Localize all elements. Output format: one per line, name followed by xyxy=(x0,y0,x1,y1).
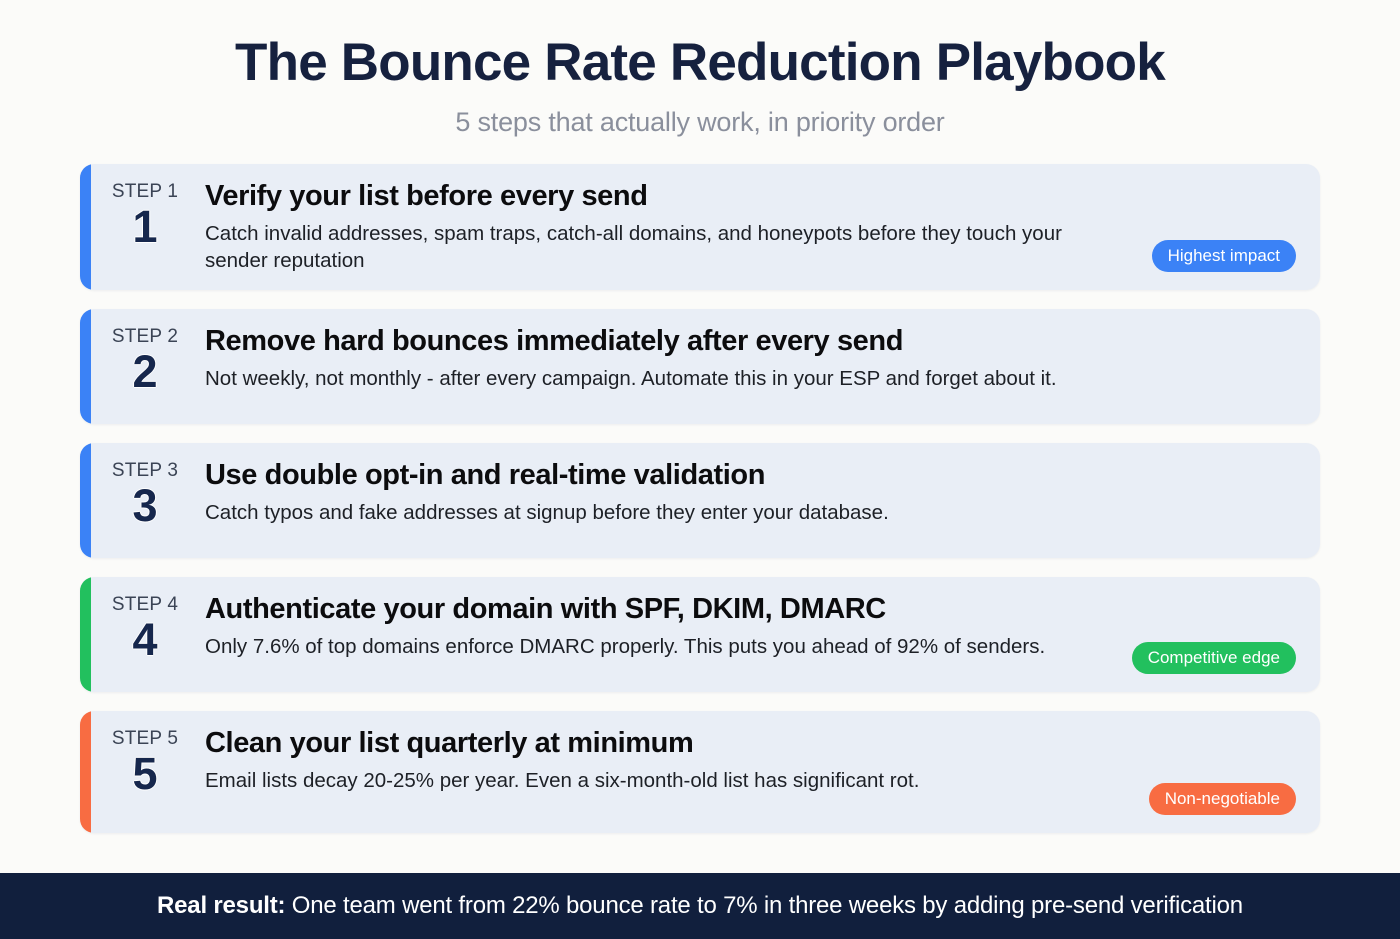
step-numeral: 4 xyxy=(91,617,199,663)
step-body: Use double opt-in and real-time validati… xyxy=(199,443,1320,540)
step-description: Catch invalid addresses, spam traps, cat… xyxy=(205,220,1125,275)
accent-bar-icon xyxy=(80,711,91,833)
status-badge: Highest impact xyxy=(1152,240,1296,272)
step-index: STEP 3 3 xyxy=(91,443,199,529)
footer-banner: Real result: One team went from 22% boun… xyxy=(0,873,1400,939)
step-card[interactable]: STEP 4 4 Authenticate your domain with S… xyxy=(80,577,1320,692)
step-card[interactable]: STEP 2 2 Remove hard bounces immediately… xyxy=(80,309,1320,424)
step-numeral: 5 xyxy=(91,751,199,797)
status-badge: Competitive edge xyxy=(1132,642,1296,674)
steps-list: STEP 1 1 Verify your list before every s… xyxy=(0,164,1400,833)
footer-lead-label: Real result: xyxy=(157,892,285,919)
step-card[interactable]: STEP 1 1 Verify your list before every s… xyxy=(80,164,1320,290)
step-kicker: STEP 1 xyxy=(91,182,199,201)
step-title: Authenticate your domain with SPF, DKIM,… xyxy=(205,593,1300,625)
step-kicker: STEP 5 xyxy=(91,729,199,748)
step-description: Email lists decay 20-25% per year. Even … xyxy=(205,767,1125,795)
step-title: Use double opt-in and real-time validati… xyxy=(205,459,1300,491)
header: The Bounce Rate Reduction Playbook 5 ste… xyxy=(0,0,1400,138)
step-index: STEP 4 4 xyxy=(91,577,199,663)
step-description: Only 7.6% of top domains enforce DMARC p… xyxy=(205,633,1125,661)
footer-text: Real result: One team went from 22% boun… xyxy=(157,892,1243,920)
step-index: STEP 1 1 xyxy=(91,164,199,250)
status-badge: Non-negotiable xyxy=(1149,783,1296,815)
step-index: STEP 2 2 xyxy=(91,309,199,395)
step-index: STEP 5 5 xyxy=(91,711,199,797)
step-numeral: 3 xyxy=(91,483,199,529)
accent-bar-icon xyxy=(80,443,91,558)
step-title: Verify your list before every send xyxy=(205,180,1300,212)
page-title: The Bounce Rate Reduction Playbook xyxy=(0,34,1400,91)
accent-bar-icon xyxy=(80,164,91,290)
step-kicker: STEP 3 xyxy=(91,461,199,480)
step-description: Not weekly, not monthly - after every ca… xyxy=(205,365,1125,393)
step-body: Remove hard bounces immediately after ev… xyxy=(199,309,1320,406)
step-kicker: STEP 2 xyxy=(91,327,199,346)
step-description: Catch typos and fake addresses at signup… xyxy=(205,499,1125,527)
page-subtitle: 5 steps that actually work, in priority … xyxy=(0,107,1400,138)
step-title: Clean your list quarterly at minimum xyxy=(205,727,1300,759)
step-card[interactable]: STEP 5 5 Clean your list quarterly at mi… xyxy=(80,711,1320,833)
step-card[interactable]: STEP 3 3 Use double opt-in and real-time… xyxy=(80,443,1320,558)
accent-bar-icon xyxy=(80,577,91,692)
step-numeral: 2 xyxy=(91,349,199,395)
step-body: Verify your list before every send Catch… xyxy=(199,164,1320,289)
step-title: Remove hard bounces immediately after ev… xyxy=(205,325,1300,357)
step-numeral: 1 xyxy=(91,204,199,250)
accent-bar-icon xyxy=(80,309,91,424)
step-kicker: STEP 4 xyxy=(91,595,199,614)
footer-result-text: One team went from 22% bounce rate to 7%… xyxy=(285,892,1243,919)
